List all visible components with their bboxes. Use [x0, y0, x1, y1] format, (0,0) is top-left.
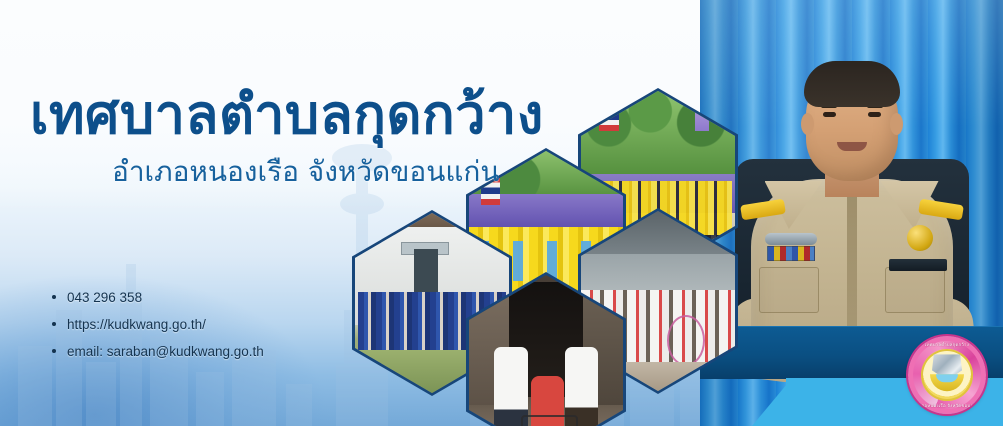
gold-badge-icon: [907, 225, 933, 251]
eye-right: [868, 112, 881, 117]
director-portrait-panel: เทศบาลตำบลกุดกว้าง อำเภอหนองเรือ จังหวัด…: [700, 0, 1003, 426]
ribbon-bar: [767, 246, 815, 261]
eye-left: [823, 112, 836, 117]
ear-right: [890, 113, 903, 135]
municipality-banner: เทศบาลตำบลกุดกว้าง อำเภอหนองเรือ จังหวัด…: [0, 0, 1003, 426]
contact-item-phone[interactable]: 043 296 358: [52, 289, 264, 307]
seal-text-top: เทศบาลตำบลกุดกว้าง: [908, 341, 986, 348]
mouth: [837, 142, 867, 151]
ear-left: [801, 113, 814, 135]
wing-insignia: [765, 233, 817, 245]
hair: [804, 61, 900, 107]
municipality-seal-logo: เทศบาลตำบลกุดกว้าง อำเภอหนองเรือ จังหวัด…: [908, 336, 986, 414]
uniform-pocket-left: [759, 267, 819, 313]
seal-emblem-icon: [928, 354, 966, 394]
contact-item-email[interactable]: email: saraban@kudkwang.go.th: [52, 343, 264, 361]
seal-text-bottom: อำเภอหนองเรือ จังหวัดขอนแก่น: [908, 402, 986, 409]
name-tag: [889, 259, 947, 271]
uniform-pocket-right: [885, 267, 945, 313]
contact-list: 043 296 358 https://kudkwang.go.th/ emai…: [52, 289, 264, 371]
page-subtitle: อำเภอหนองเรือ จังหวัดขอนแก่น: [112, 158, 499, 186]
page-title: เทศบาลตำบลกุดกว้าง: [30, 88, 544, 142]
contact-item-website[interactable]: https://kudkwang.go.th/: [52, 316, 264, 334]
